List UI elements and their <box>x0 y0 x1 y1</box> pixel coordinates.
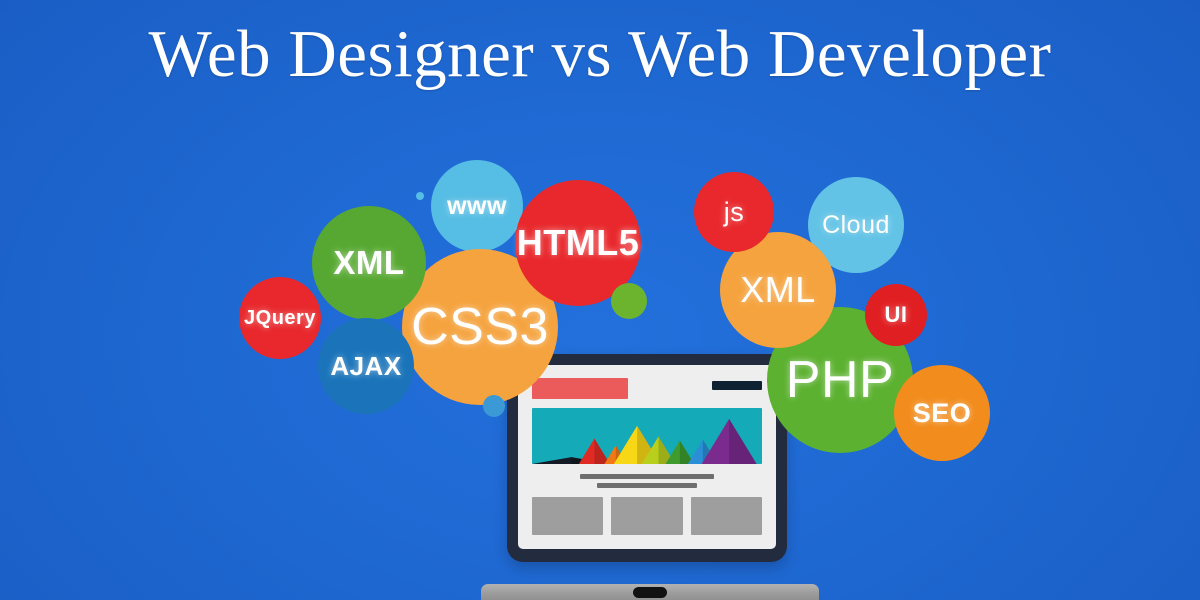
text-line-2 <box>597 483 697 488</box>
bubble-label: JQuery <box>244 307 316 330</box>
desktop-monitor <box>507 354 787 562</box>
bubble-label: AJAX <box>330 351 401 382</box>
monitor-screen <box>518 365 776 549</box>
page-title: Web Designer vs Web Developer <box>0 16 1200 93</box>
bubble-label: XML <box>740 269 816 311</box>
bubble-label: SEO <box>913 398 972 429</box>
header-banner-block <box>532 378 628 399</box>
content-card <box>691 497 762 535</box>
bubble-js[interactable]: js <box>694 172 774 252</box>
content-card <box>611 497 682 535</box>
peak-shadow-purple <box>729 419 757 464</box>
bubble-label: XML <box>333 244 404 282</box>
bubble-label: CSS3 <box>411 297 549 357</box>
bubble-seo[interactable]: SEO <box>894 365 990 461</box>
blue-dot <box>483 395 505 417</box>
mountain-peaks-chart <box>532 408 762 464</box>
bubble-jquery[interactable]: JQuery <box>239 277 321 359</box>
bubble-www[interactable]: www <box>431 160 523 252</box>
bubble-label: Cloud <box>822 211 890 240</box>
trackpad-notch <box>633 587 667 598</box>
header-nav-block <box>712 381 762 390</box>
bubble-label: UI <box>885 302 908 328</box>
bubble-label: js <box>724 197 745 228</box>
tiny-blue-dot <box>416 192 424 200</box>
text-line-1 <box>580 474 714 479</box>
hero-chart-illustration <box>532 408 762 464</box>
bubble-ui[interactable]: UI <box>865 284 927 346</box>
content-card-row <box>532 497 762 535</box>
green-dot <box>611 283 647 319</box>
bubble-xml[interactable]: XML <box>312 206 426 320</box>
website-header-row <box>532 378 762 400</box>
bubble-label: PHP <box>786 350 894 410</box>
poster-canvas: Web Designer vs Web Developer JQueryXMLA… <box>0 0 1200 600</box>
bubble-label: HTML5 <box>517 222 640 264</box>
bubble-label: www <box>447 192 507 221</box>
content-card <box>532 497 603 535</box>
bubble-ajax[interactable]: AJAX <box>318 318 414 414</box>
